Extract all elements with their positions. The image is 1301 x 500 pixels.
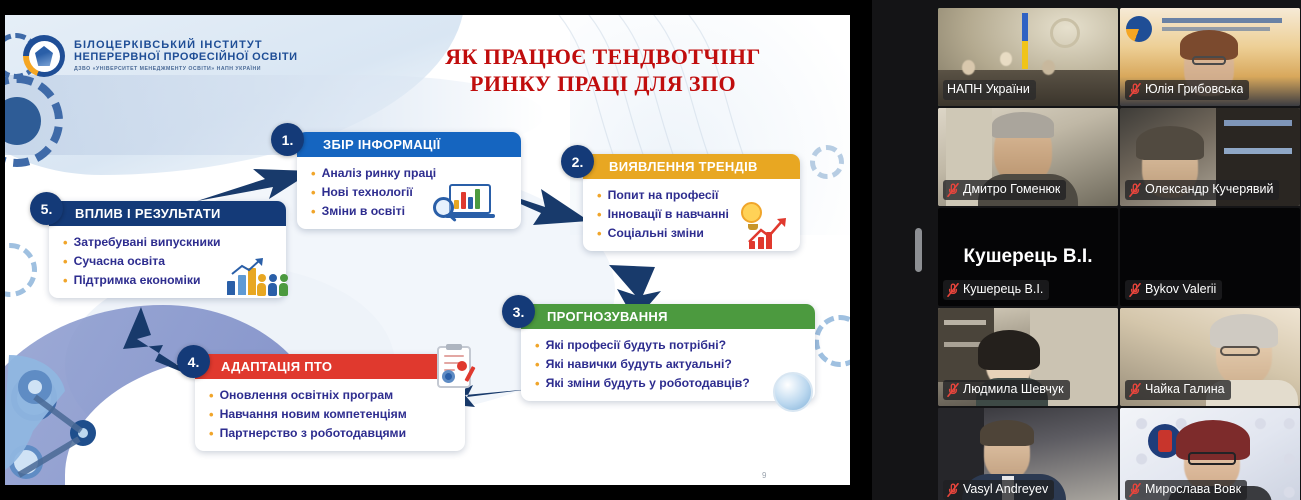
institute-emblem-icon — [23, 35, 65, 77]
mic-off-icon — [1129, 383, 1141, 397]
participant-name-badge: Олександр Кучерявий — [1125, 180, 1279, 200]
participant-name-badge: НАПН України — [943, 80, 1036, 100]
step-badge-4: 4. — [177, 345, 210, 378]
mic-off-icon — [1129, 483, 1141, 497]
step-heading-3: ПРОГНОЗУВАННЯ — [521, 304, 815, 329]
bullet-dot-icon: • — [535, 355, 540, 374]
step-bullets-4: •Оновлення освітніх програм •Навчання но… — [195, 379, 465, 451]
slide-number: 9 — [762, 471, 766, 480]
cog-decoration-4 — [5, 243, 37, 297]
mic-off-icon — [947, 183, 959, 197]
participant-name-badge: Юлія Грибовська — [1125, 80, 1249, 100]
step-badge-2: 2. — [561, 145, 594, 178]
step-card-4[interactable]: 4. АДАПТАЦІЯ ПТО •Оновлення освітніх про… — [195, 354, 465, 451]
list-item: •Оновлення освітніх програм — [209, 386, 455, 405]
slide-logo: БІЛОЦЕРКІВСЬКИЙ ІНСТИТУТ НЕПЕРЕРВНОЇ ПРО… — [23, 25, 298, 87]
list-item: •Затребувані випускники — [63, 233, 276, 252]
bullet-dot-icon: • — [597, 224, 602, 243]
bullet-dot-icon: • — [311, 164, 316, 183]
participant-tile[interactable]: Юлія Грибовська — [1120, 8, 1300, 106]
step-badge-1: 1. — [271, 123, 304, 156]
mic-off-icon — [1129, 183, 1141, 197]
cog-decoration-7 — [814, 315, 850, 367]
bullet-dot-icon: • — [209, 386, 214, 405]
participant-name: НАПН України — [947, 81, 1030, 98]
bullet-dot-icon: • — [63, 252, 68, 271]
cog-decoration-8 — [810, 145, 844, 179]
participant-name-badge: Дмитро Гоменюк — [943, 180, 1066, 200]
bullet-dot-icon: • — [209, 405, 214, 424]
bullet-dot-icon: • — [209, 424, 214, 443]
lightbulb-growth-icon — [733, 202, 793, 250]
step-card-1[interactable]: 1. ЗБІР ІНФОРМАЦІЇ •Аналіз ринку праці •… — [297, 132, 521, 229]
growth-arrow-icon — [747, 218, 789, 244]
crystal-ball-icon — [773, 372, 813, 412]
participant-tile[interactable]: Bykov Valerii — [1120, 208, 1300, 306]
participant-name-badge: Мирослава Вовк — [1125, 480, 1247, 500]
participants-panel: НАПН України Юлія Грибовська — [872, 0, 1301, 500]
participant-name-badge: Чайка Галина — [1125, 380, 1231, 400]
list-item: •Які зміни будуть у роботодавців? — [535, 374, 805, 393]
participant-name-badge: Кушерець В.І. — [943, 280, 1049, 300]
participant-name: Кушерець В.І. — [963, 281, 1043, 298]
shared-screen-stage[interactable]: БІЛОЦЕРКІВСЬКИЙ ІНСТИТУТ НЕПЕРЕРВНОЇ ПРО… — [0, 0, 872, 500]
bar-chart-people-icon — [227, 256, 289, 298]
mic-off-icon — [947, 383, 959, 397]
title-line-1: ЯК ПРАЦЮЄ ТЕНДВОТЧІНГ — [393, 43, 813, 70]
participant-name-badge: Людмила Шевчук — [943, 380, 1070, 400]
participant-tile[interactable]: Людмила Шевчук — [938, 308, 1118, 406]
page-title: ЯК ПРАЦЮЄ ТЕНДВОТЧІНГ РИНКУ ПРАЦІ ДЛЯ ЗП… — [393, 43, 813, 97]
step-heading-2: ВИЯВЛЕННЯ ТРЕНДІВ — [583, 154, 800, 179]
participant-tile[interactable]: Дмитро Гоменюк — [938, 108, 1118, 206]
step-bullets-3: •Які професії будуть потрібні? •Які нави… — [521, 329, 815, 401]
list-item: •Які професії будуть потрібні? — [535, 336, 805, 355]
step-badge-3: 3. — [502, 295, 535, 328]
participant-tile[interactable]: Чайка Галина — [1120, 308, 1300, 406]
step-heading-4: АДАПТАЦІЯ ПТО — [195, 354, 465, 379]
list-item: •Навчання новим компетенціям — [209, 405, 455, 424]
step-badge-5: 5. — [30, 192, 63, 225]
participant-name-badge: Vasyl Andreyev — [943, 480, 1054, 500]
clipboard-gear-icon — [437, 346, 471, 388]
logo-line-3: ДЗВО «УНІВЕРСИТЕТ МЕНЕДЖМЕНТУ ОСВІТИ» НА… — [74, 65, 298, 74]
chain-gear-decoration — [5, 335, 119, 485]
presentation-slide: БІЛОЦЕРКІВСЬКИЙ ІНСТИТУТ НЕПЕРЕРВНОЇ ПРО… — [5, 15, 850, 485]
step-heading-1: ЗБІР ІНФОРМАЦІЇ — [297, 132, 521, 157]
mic-off-icon — [1129, 83, 1141, 97]
bullet-dot-icon: • — [597, 205, 602, 224]
participant-name: Vasyl Andreyev — [963, 481, 1048, 498]
participant-grid: НАПН України Юлія Грибовська — [938, 8, 1301, 500]
bullet-dot-icon: • — [63, 271, 68, 290]
mic-off-icon — [947, 483, 959, 497]
list-item: •Аналіз ринку праці — [311, 164, 511, 183]
mic-off-icon — [947, 283, 959, 297]
participant-name: Bykov Valerii — [1145, 281, 1216, 298]
list-item: •Які навички будуть актуальні? — [535, 355, 805, 374]
participant-tile[interactable]: Мирослава Вовк — [1120, 408, 1300, 500]
bullet-dot-icon: • — [535, 374, 540, 393]
participant-name-badge: Bykov Valerii — [1125, 280, 1222, 300]
participant-name: Чайка Галина — [1145, 381, 1225, 398]
step-card-3[interactable]: 3. ПРОГНОЗУВАННЯ •Які професії будуть по… — [521, 304, 815, 401]
meeting-window: БІЛОЦЕРКІВСЬКИЙ ІНСТИТУТ НЕПЕРЕРВНОЇ ПРО… — [0, 0, 1301, 500]
participant-tile[interactable]: Vasyl Andreyev — [938, 408, 1118, 500]
participant-name: Мирослава Вовк — [1145, 481, 1241, 498]
mic-off-icon — [1129, 283, 1141, 297]
participant-name: Олександр Кучерявий — [1145, 181, 1273, 198]
bullet-dot-icon: • — [597, 186, 602, 205]
logo-line-1: БІЛОЦЕРКІВСЬКИЙ ІНСТИТУТ — [74, 39, 298, 51]
participant-name: Людмила Шевчук — [963, 381, 1064, 398]
step-heading-5: ВПЛИВ І РЕЗУЛЬТАТИ — [49, 201, 286, 226]
step-card-2[interactable]: 2. ВИЯВЛЕННЯ ТРЕНДІВ •Попит на професії … — [583, 154, 800, 251]
list-item: •Партнерство з роботодавцями — [209, 424, 455, 443]
bullet-dot-icon: • — [63, 233, 68, 252]
step-card-5[interactable]: 5. ВПЛИВ І РЕЗУЛЬТАТИ •Затребувані випус… — [49, 201, 286, 298]
participants-scrollbar[interactable] — [915, 228, 922, 272]
bullet-dot-icon: • — [311, 202, 316, 221]
participant-tile[interactable]: Кушерець В.І. Кушерець В.І. — [938, 208, 1118, 306]
participant-tile[interactable]: Олександр Кучерявий — [1120, 108, 1300, 206]
logo-line-2: НЕПЕРЕРВНОЇ ПРОФЕСІЙНОЇ ОСВІТИ — [74, 51, 298, 64]
participant-name: Дмитро Гоменюк — [963, 181, 1060, 198]
chart-monitor-magnifier-icon — [449, 184, 495, 218]
participant-name: Юлія Грибовська — [1145, 81, 1243, 98]
bullet-dot-icon: • — [311, 183, 316, 202]
title-line-2: РИНКУ ПРАЦІ ДЛЯ ЗПО — [393, 70, 813, 97]
participant-tile[interactable]: НАПН України — [938, 8, 1118, 106]
bullet-dot-icon: • — [535, 336, 540, 355]
